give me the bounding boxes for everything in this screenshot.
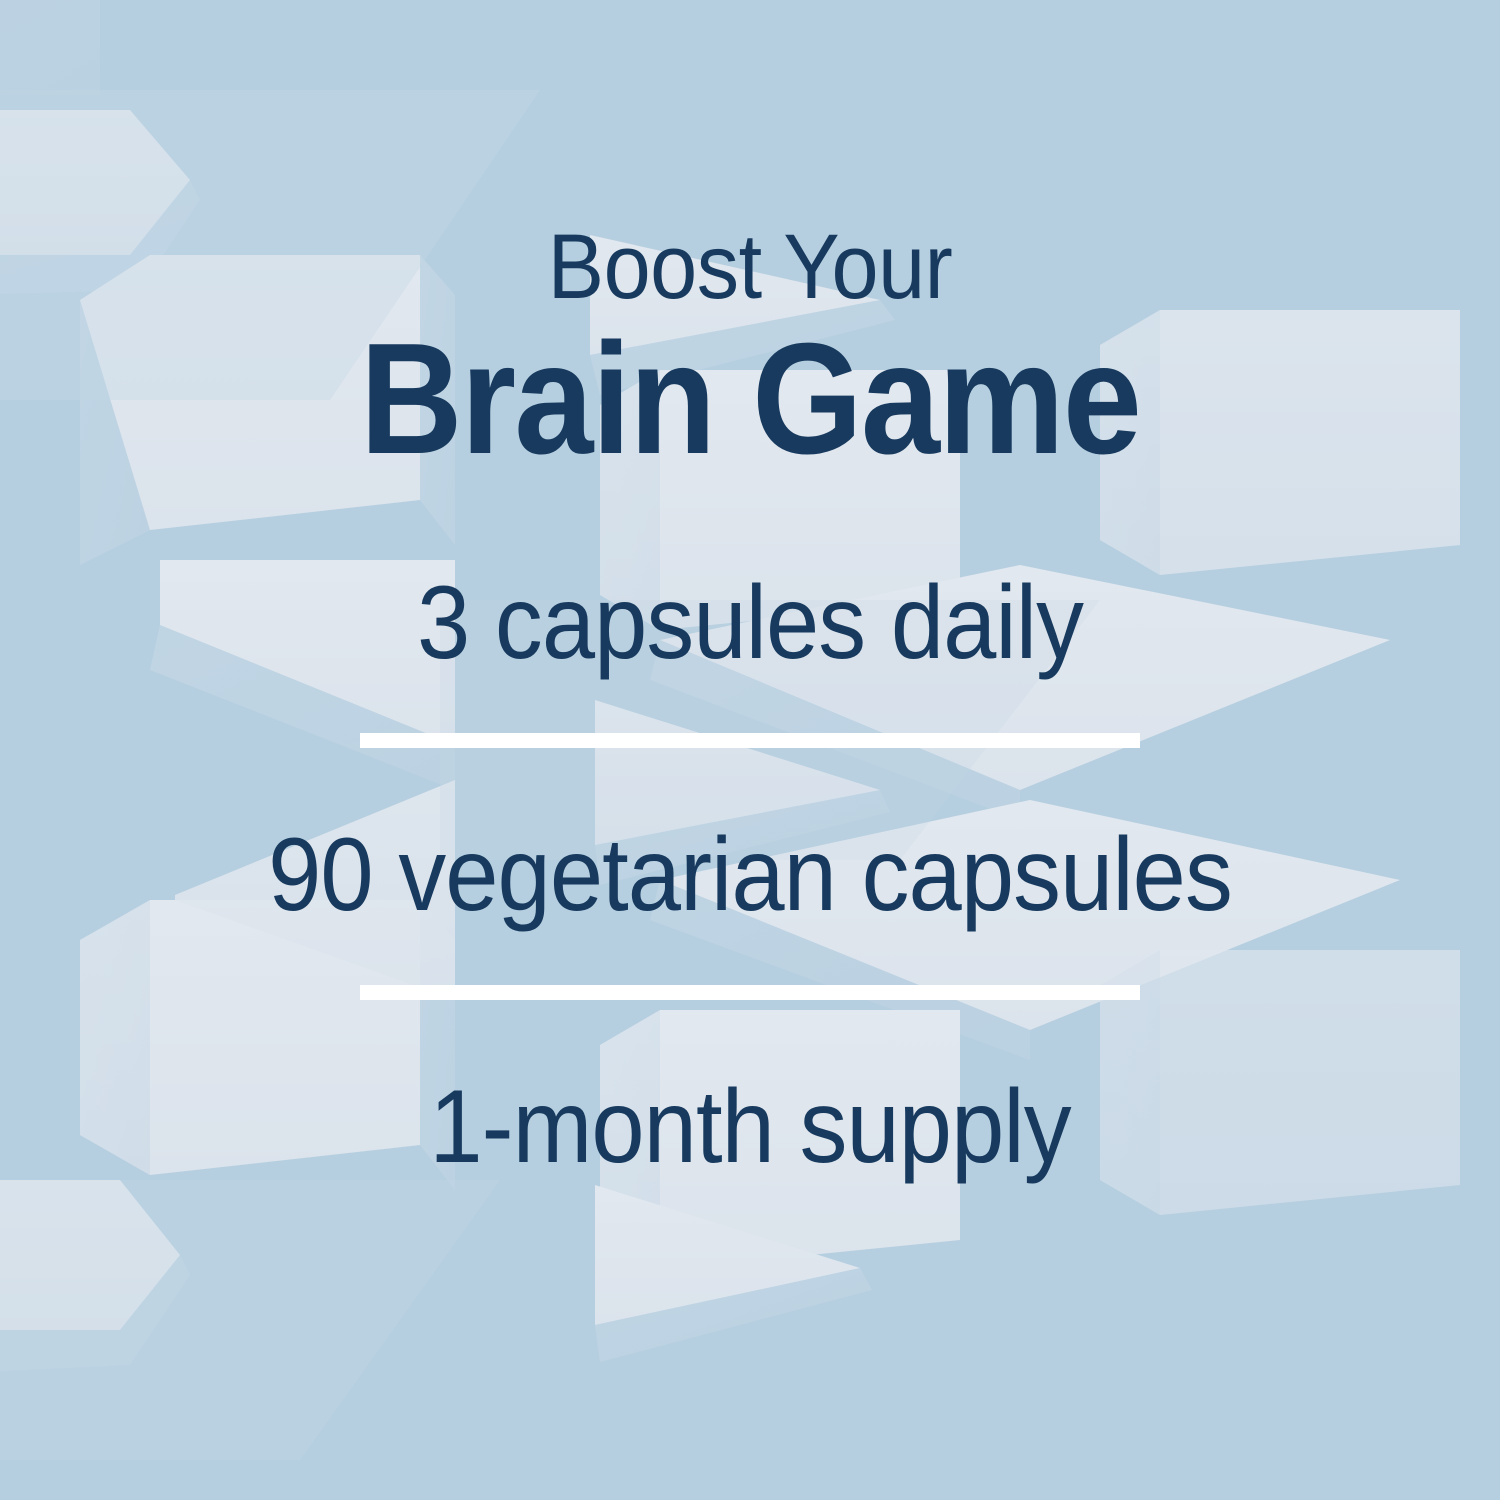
feature-dosage: 3 capsules daily <box>60 571 1440 675</box>
page-title: Brain Game <box>75 320 1425 478</box>
product-feature-card: Boost Your Brain Game 3 capsules daily 9… <box>0 0 1500 1500</box>
feature-capsule-count: 90 vegetarian capsules <box>60 823 1440 927</box>
content-column: Boost Your Brain Game 3 capsules daily 9… <box>0 0 1500 1500</box>
divider-above-capsule-count <box>360 733 1140 748</box>
headline-block: Boost Your Brain Game <box>0 222 1500 478</box>
headline-eyebrow: Boost Your <box>60 222 1440 312</box>
divider-above-supply-duration <box>360 985 1140 1000</box>
feature-supply-duration: 1-month supply <box>60 1075 1440 1179</box>
